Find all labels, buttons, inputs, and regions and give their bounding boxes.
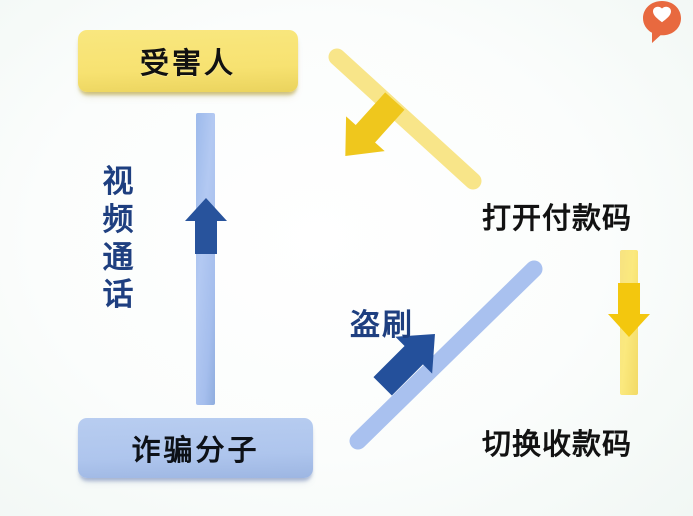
node-victim[interactable]: 受害人 xyxy=(78,30,298,92)
open-payment-code-arrow-icon xyxy=(325,45,485,190)
video-call-arrow-head-icon xyxy=(185,198,227,254)
video-call-char-3: 通 xyxy=(97,239,139,277)
edge-label-steal-swipe: 盗刷 xyxy=(350,300,414,344)
video-call-char-4: 话 xyxy=(97,276,139,314)
node-fraudster[interactable]: 诈骗分子 xyxy=(78,418,313,478)
edge-label-video-call: 视 频 通 话 xyxy=(97,163,139,314)
video-call-char-1: 视 xyxy=(97,163,139,201)
node-victim-label: 受害人 xyxy=(140,40,236,82)
step-label-open-payment-code: 打开付款码 xyxy=(482,195,632,237)
node-fraudster-label: 诈骗分子 xyxy=(131,427,259,469)
video-call-arrow-shaft xyxy=(196,113,215,405)
step-label-switch-receive-code: 切换收款码 xyxy=(482,421,632,463)
switch-code-arrow-head-icon xyxy=(608,283,650,337)
diagram-canvas: 受害人 诈骗分子 视 频 通 话 盗刷 xyxy=(0,0,693,516)
video-call-char-2: 频 xyxy=(97,201,139,239)
heart-chat-bubble-logo xyxy=(641,0,683,44)
